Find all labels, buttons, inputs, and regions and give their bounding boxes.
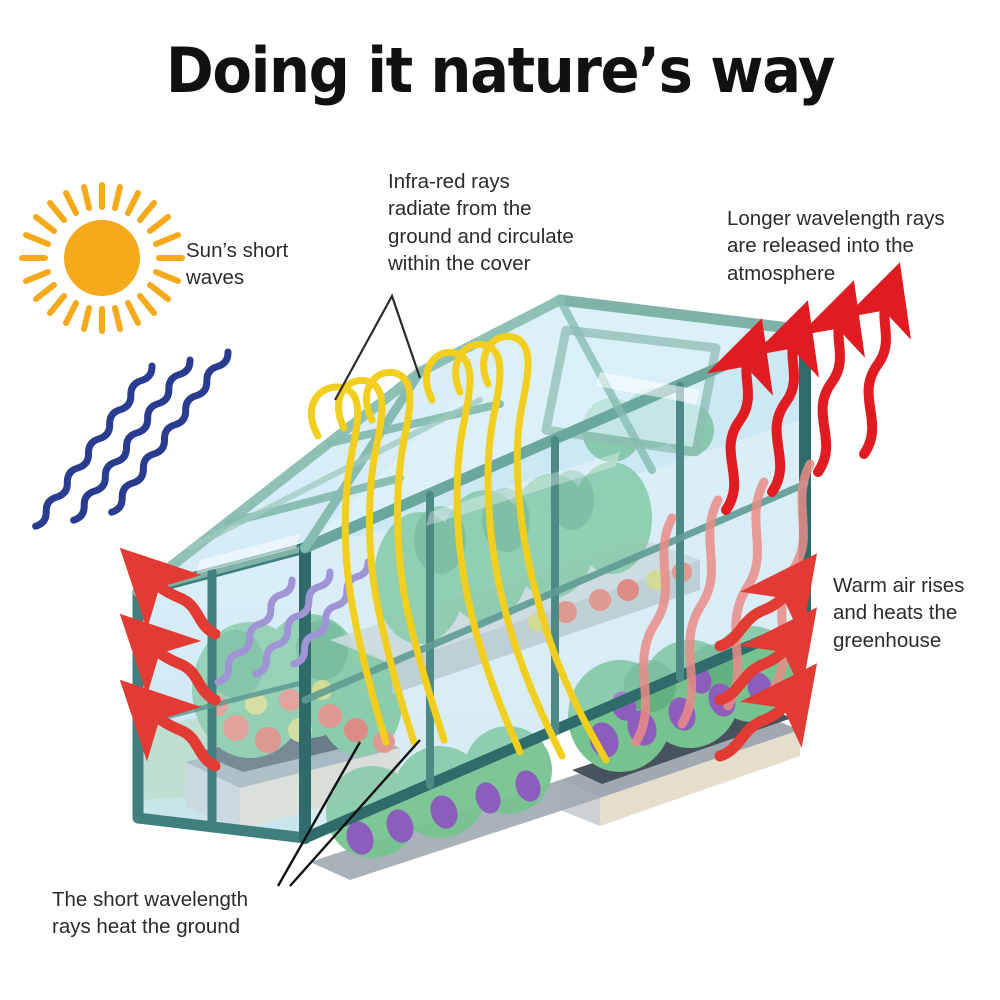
greenhouse-illustration <box>0 0 1000 1000</box>
label-infrared-rays: Infra-red rays radiate from the ground a… <box>388 168 574 278</box>
label-warm-air-rises: Warm air rises and heats the greenhouse <box>833 572 964 654</box>
label-sun-short-waves: Sun’s short waves <box>186 237 288 292</box>
infographic-canvas: Doing it nature’s way <box>0 0 1000 1000</box>
sun-icon <box>22 185 182 331</box>
label-longer-wavelength: Longer wavelength rays are released into… <box>727 205 945 287</box>
label-short-wavelength-ground: The short wavelength rays heat the groun… <box>52 886 248 941</box>
